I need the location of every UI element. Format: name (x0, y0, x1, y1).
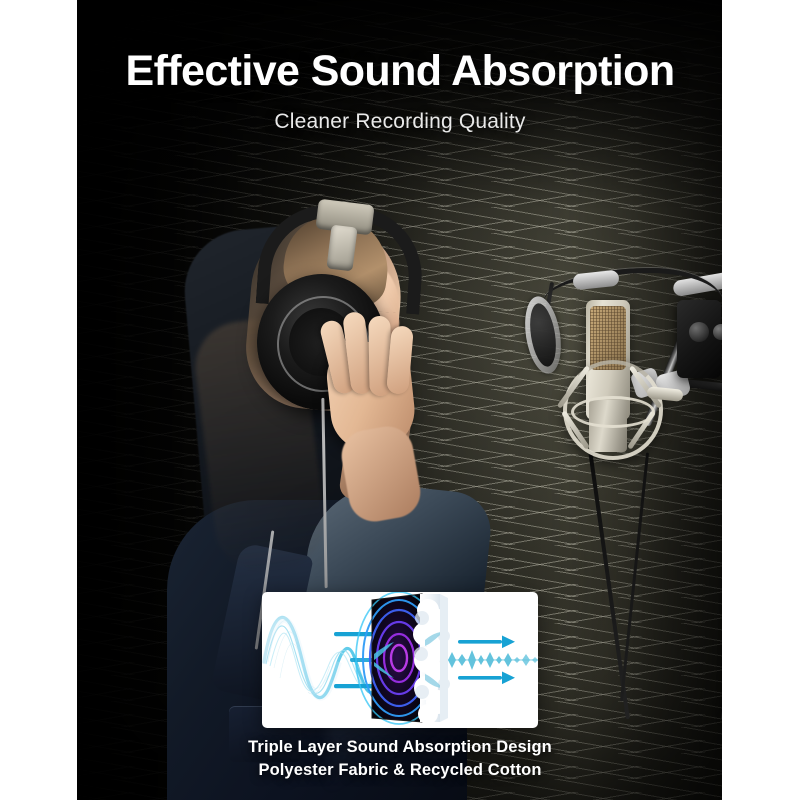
shock-mount-lower-ring (571, 396, 655, 428)
headphone-yoke (326, 225, 357, 272)
product-banner: Effective Sound Absorption Cleaner Recor… (0, 0, 800, 800)
left-page-margin (0, 0, 77, 800)
sound-absorption-diagram (262, 592, 538, 728)
caption-line-1: Triple Layer Sound Absorption Design (0, 736, 800, 759)
diagram-svg (262, 592, 538, 728)
right-page-margin (722, 0, 800, 800)
feature-caption: Triple Layer Sound Absorption Design Pol… (0, 736, 800, 782)
boom-side-knob (713, 324, 722, 340)
boom-tension-knob (689, 322, 709, 342)
top-darkening-gradient (77, 0, 722, 210)
page-title: Effective Sound Absorption (0, 50, 800, 93)
attenuated-output-wave (448, 650, 538, 670)
caption-line-2: Polyester Fabric & Recycled Cotton (0, 759, 800, 782)
page-subtitle: Cleaner Recording Quality (0, 110, 800, 134)
